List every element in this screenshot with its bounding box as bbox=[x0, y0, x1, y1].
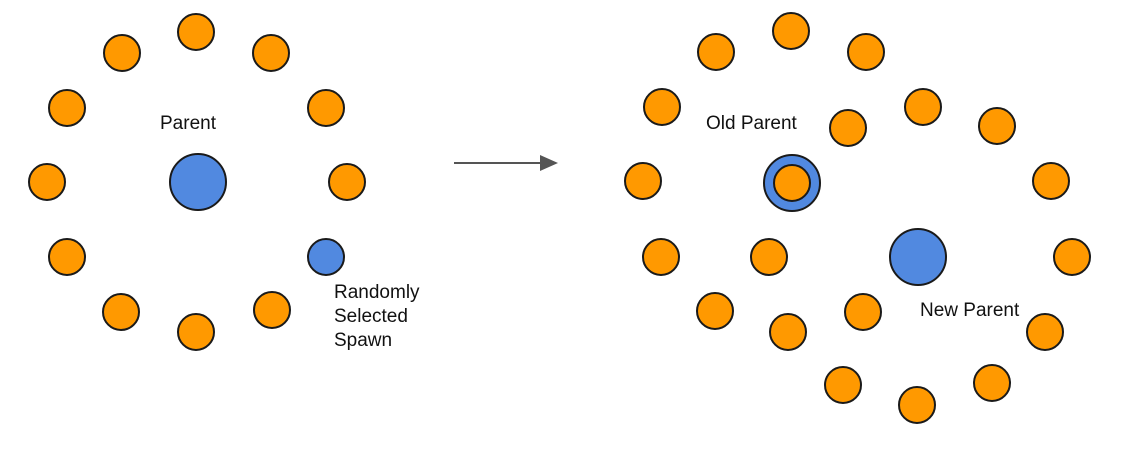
agent-node bbox=[697, 33, 735, 71]
agent-node bbox=[1026, 313, 1064, 351]
agent-node bbox=[904, 88, 942, 126]
agent-node bbox=[829, 109, 867, 147]
agent-node bbox=[624, 162, 662, 200]
panel-after-state: Old ParentNew Parent bbox=[0, 0, 1130, 451]
agent-node bbox=[769, 313, 807, 351]
agent-node bbox=[973, 364, 1011, 402]
diagram-canvas: ParentRandomly Selected Spawn Old Parent… bbox=[0, 0, 1130, 451]
agent-node bbox=[1032, 162, 1070, 200]
agent-node bbox=[1053, 238, 1091, 276]
agent-node bbox=[847, 33, 885, 71]
agent-node bbox=[898, 386, 936, 424]
new-parent-label: New Parent bbox=[920, 299, 1019, 323]
agent-node bbox=[696, 292, 734, 330]
agent-node bbox=[642, 238, 680, 276]
agent-node bbox=[773, 164, 811, 202]
agent-node bbox=[772, 12, 810, 50]
agent-node bbox=[824, 366, 862, 404]
agent-node bbox=[643, 88, 681, 126]
agent-node bbox=[844, 293, 882, 331]
transition-arrow bbox=[450, 145, 565, 181]
old-parent-node bbox=[763, 154, 821, 212]
agent-node bbox=[978, 107, 1016, 145]
old-parent-label: Old Parent bbox=[706, 112, 797, 136]
agent-node bbox=[750, 238, 788, 276]
new-parent-node bbox=[889, 228, 947, 286]
